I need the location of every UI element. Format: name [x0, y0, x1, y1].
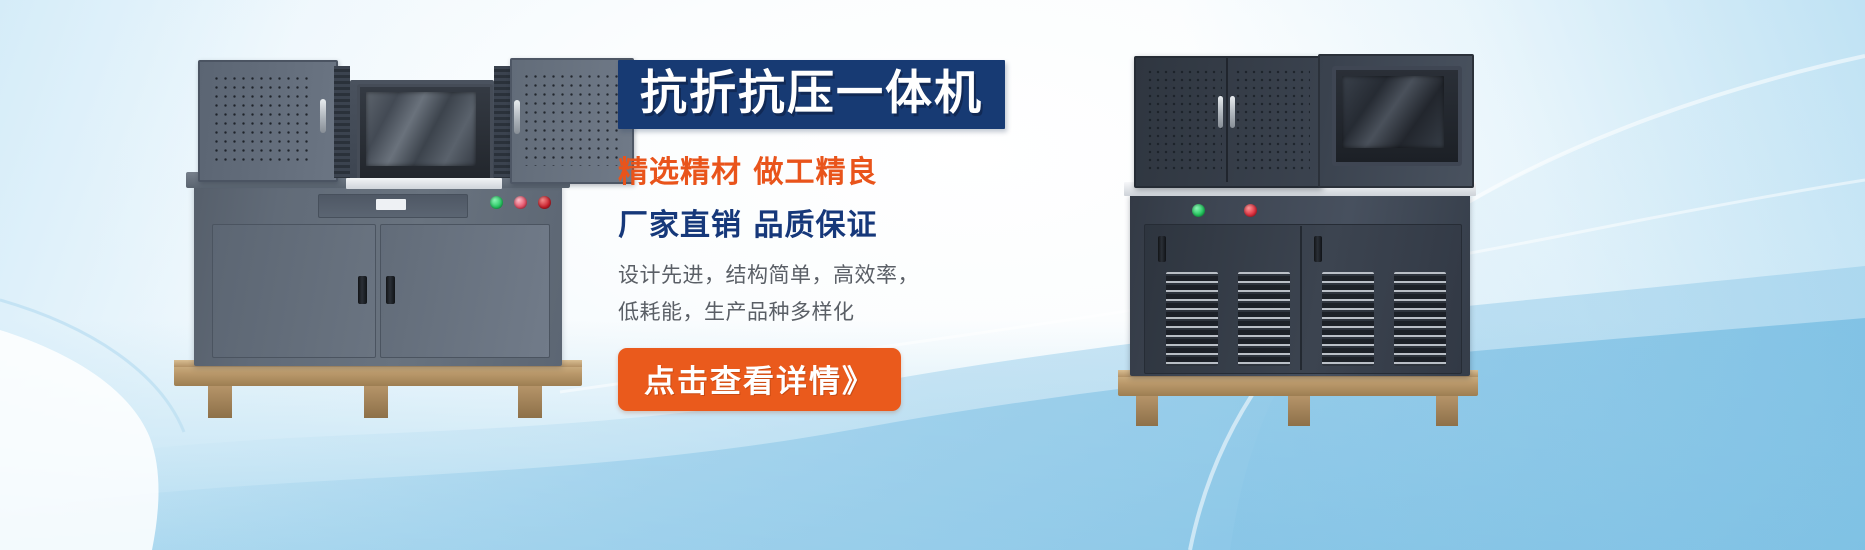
pallet-left	[174, 364, 582, 386]
upper-left-door-handle	[320, 99, 326, 133]
upper-right-door-handle	[514, 100, 520, 134]
upper-right-door-side	[494, 66, 510, 178]
promo-banner: 抗折抗压一体机 精选精材 做工精良 厂家直销 品质保证 设计先进，结构简单，高效…	[0, 0, 1865, 550]
upper-left-door-perforation	[210, 72, 310, 166]
stop-light	[538, 196, 551, 209]
title-banner: 抗折抗压一体机	[618, 60, 1005, 129]
upper-cabinet-left-door-perforation	[1144, 66, 1222, 174]
monitor-base-bar	[346, 178, 502, 189]
monitor-screen-right	[1342, 76, 1444, 148]
description-line-1: 设计先进，结构简单，高效率，	[618, 257, 1088, 294]
alarm-light	[514, 196, 527, 209]
upper-cabinet-left-door-handle	[1218, 96, 1223, 128]
lower-left-door	[212, 224, 376, 358]
upper-left-door-side	[334, 66, 350, 178]
upper-cabinet-right-door-handle	[1230, 96, 1235, 128]
pallet-leg	[1136, 396, 1158, 426]
banner-text-column: 抗折抗压一体机 精选精材 做工精良 厂家直销 品质保证 设计先进，结构简单，高效…	[618, 60, 1088, 411]
description-block: 设计先进，结构简单，高效率， 低耗能，生产品种多样化	[618, 257, 1088, 331]
pallet-right	[1118, 374, 1478, 396]
view-details-button[interactable]: 点击查看详情》	[618, 348, 901, 411]
lower-right-door-handle	[386, 276, 395, 304]
page-title: 抗折抗压一体机	[640, 69, 983, 118]
ventilation-louver-left	[1166, 272, 1218, 366]
lower-right-door	[380, 224, 550, 358]
description-line-2: 低耗能，生产品种多样化	[618, 294, 1088, 331]
product-image-left	[168, 44, 588, 434]
product-image-right	[1110, 44, 1490, 436]
ventilation-louver-right	[1322, 272, 1374, 366]
pallet-leg	[1436, 396, 1458, 426]
pallet-leg	[208, 386, 232, 418]
monitor-screen-left	[366, 92, 476, 166]
subtitle-orange: 精选精材 做工精良	[618, 147, 1088, 191]
lower-left-door-handle	[358, 276, 367, 304]
lower-right-door-handle	[1314, 236, 1322, 262]
control-panel-label	[376, 199, 406, 210]
view-details-button-label: 点击查看详情》	[644, 364, 875, 400]
upper-cabinet-door-seam	[1226, 58, 1228, 182]
ventilation-louver-far-right	[1394, 272, 1446, 366]
lower-left-door-handle	[1158, 236, 1166, 262]
upper-right-door-perforation	[520, 70, 620, 166]
lower-door-seam-right	[1300, 226, 1302, 370]
power-on-light	[1192, 204, 1205, 217]
subtitle-navy: 厂家直销 品质保证	[618, 200, 1088, 244]
pallet-leg	[1288, 396, 1310, 426]
pallet-leg	[364, 386, 388, 418]
power-on-light	[490, 196, 503, 209]
pallet-leg	[518, 386, 542, 418]
ventilation-louver-center	[1238, 272, 1290, 366]
upper-cabinet-right-door-perforation	[1232, 66, 1310, 174]
stop-light	[1244, 204, 1257, 217]
